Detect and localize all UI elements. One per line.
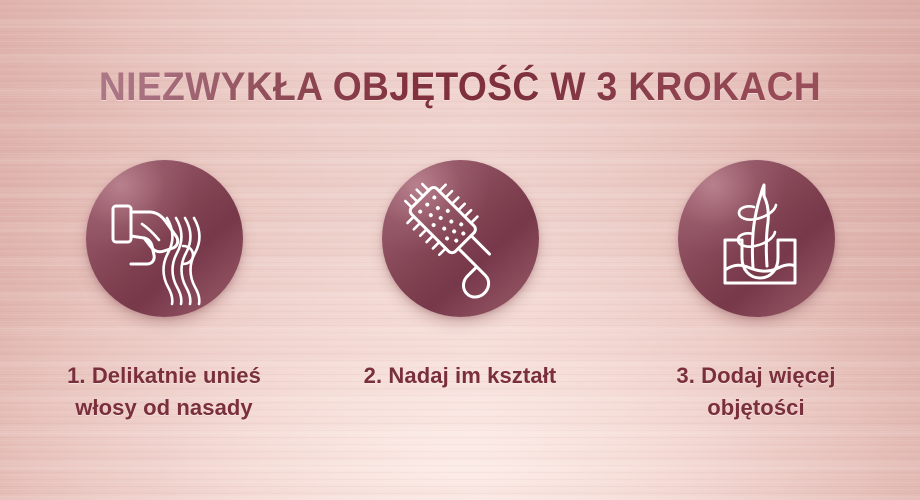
page-title: NIEZWYKŁA OBJĘTOŚĆ W 3 KROKACH — [32, 64, 888, 110]
step-3 — [678, 160, 835, 317]
step-3-caption-line1: 3. Dodaj więcej — [626, 360, 886, 392]
step-1-badge — [86, 160, 243, 317]
step-1 — [86, 160, 243, 317]
hand-lifting-hair-icon — [86, 160, 243, 317]
step-2-caption: 2. Nadaj im kształt — [330, 360, 590, 424]
step-3-caption: 3. Dodaj więcej objętości — [626, 360, 886, 424]
steps-icon-row — [0, 160, 920, 317]
hair-brush-icon — [382, 160, 539, 317]
step-2-caption-line1: 2. Nadaj im kształt — [330, 360, 590, 392]
step-3-caption-line2: objętości — [626, 392, 886, 424]
step-2 — [382, 160, 539, 317]
hair-root-volume-icon — [678, 160, 835, 317]
steps-caption-row: 1. Delikatnie unieś włosy od nasady 2. N… — [0, 360, 920, 424]
step-1-caption-line2: włosy od nasady — [34, 392, 294, 424]
step-1-caption-line1: 1. Delikatnie unieś — [34, 360, 294, 392]
step-1-caption: 1. Delikatnie unieś włosy od nasady — [34, 360, 294, 424]
step-2-badge — [382, 160, 539, 317]
step-3-badge — [678, 160, 835, 317]
banner-content: NIEZWYKŁA OBJĘTOŚĆ W 3 KROKACH — [0, 0, 920, 500]
